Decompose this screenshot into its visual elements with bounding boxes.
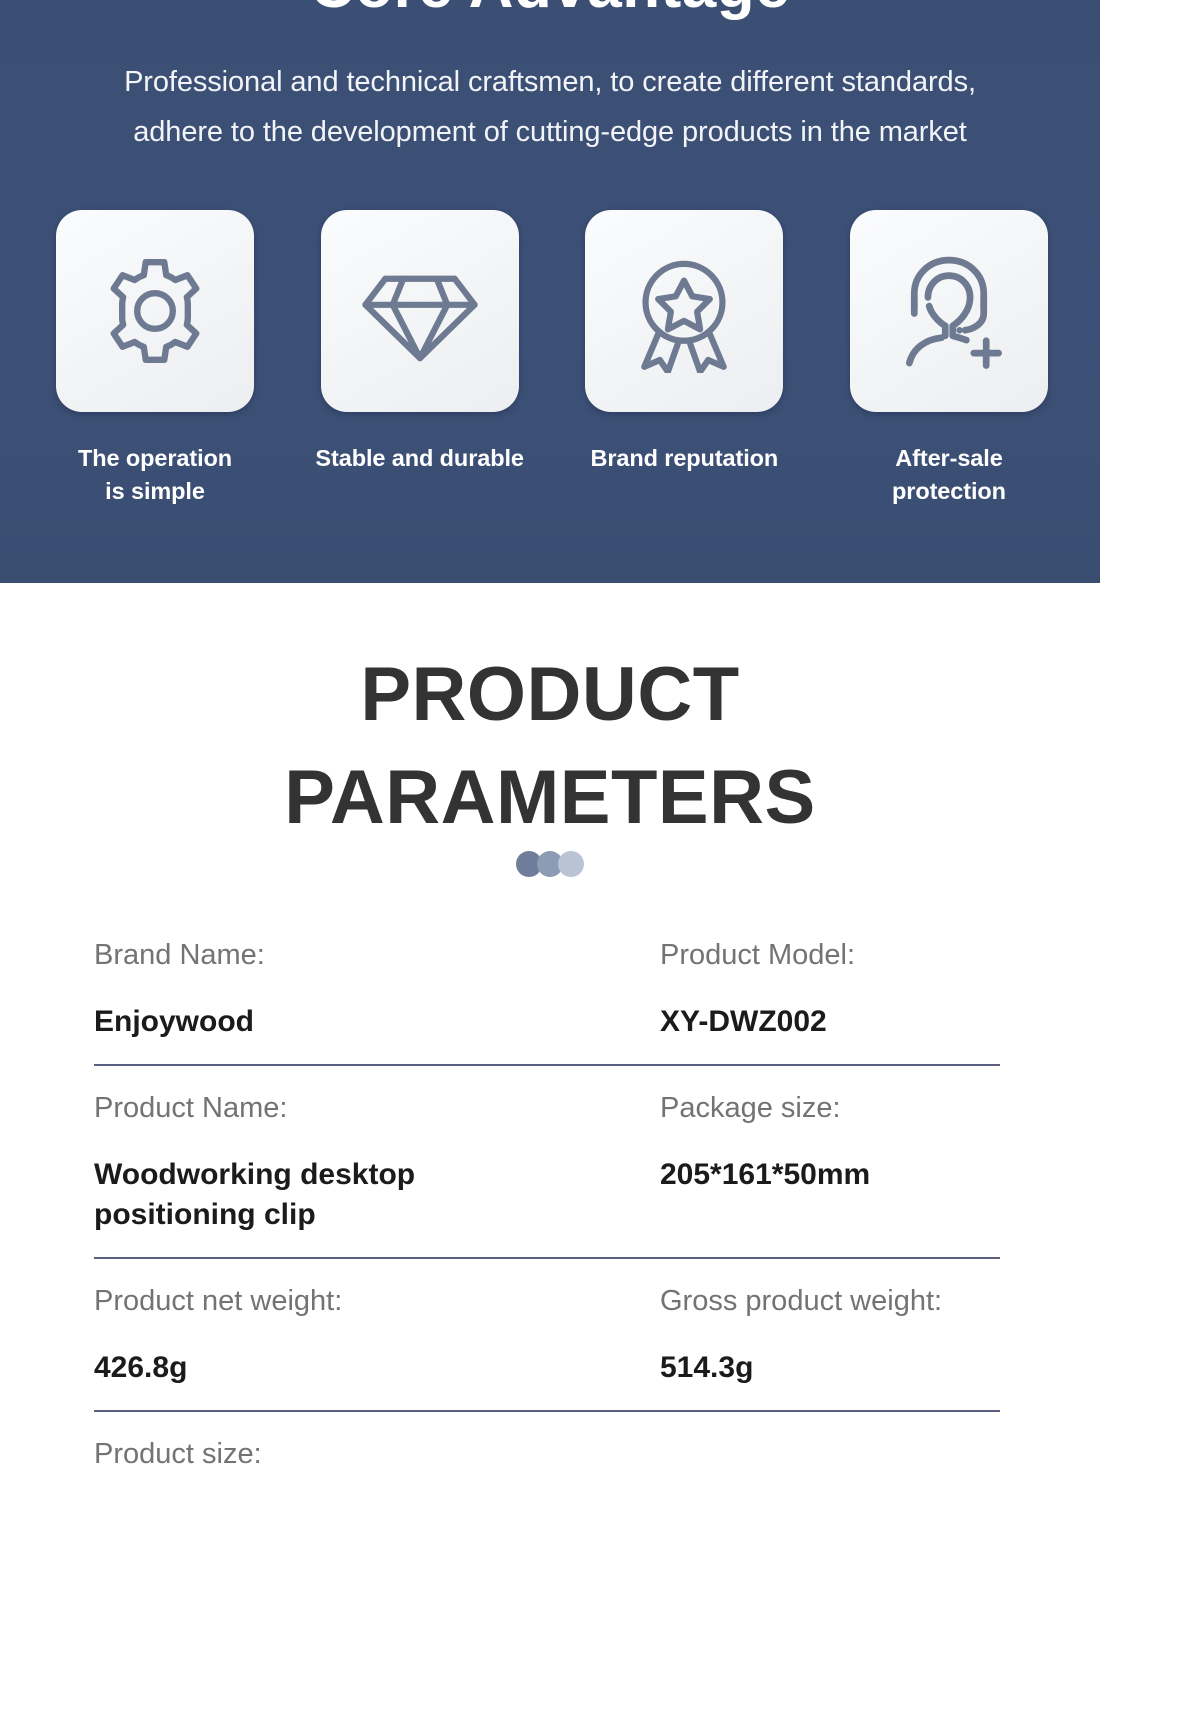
feature-label: Brand reputation: [569, 442, 799, 475]
feature-item-reputation: Brand reputation: [569, 210, 799, 509]
parameter-cell: Product size:: [94, 1412, 660, 1496]
banner-subtitle-line-1: Professional and technical craftsmen, to…: [16, 58, 1084, 108]
feature-icon-tile: [585, 210, 783, 412]
table-row: Product Name: Woodworking desktop positi…: [94, 1066, 1000, 1259]
dot-decoration: [0, 851, 1100, 877]
section-title-line-2: PARAMETERS: [0, 746, 1100, 849]
diamond-icon: [358, 249, 482, 373]
feature-label: The operation is simple: [40, 442, 270, 509]
section-title-line-1: PRODUCT: [0, 643, 1100, 746]
feature-item-operation: The operation is simple: [40, 210, 270, 509]
headset-support-plus-icon: [887, 249, 1011, 373]
parameter-cell: Product Model: XY-DWZ002: [660, 913, 1000, 1064]
banner-subtitle: Professional and technical craftsmen, to…: [16, 58, 1084, 158]
parameter-value: 514.3g: [660, 1348, 1000, 1388]
parameter-value-line: XY-DWZ002: [660, 1002, 1000, 1042]
parameter-key: Gross product weight:: [660, 1283, 1000, 1321]
feature-icon-tile: [321, 210, 519, 412]
parameter-value: 426.8g: [94, 1348, 644, 1388]
parameter-key: Package size:: [660, 1090, 1000, 1128]
feature-label-line-2: is simple: [40, 475, 270, 508]
parameter-cell: Package size: 205*161*50mm: [660, 1066, 1000, 1257]
banner-subtitle-line-2: adhere to the development of cutting-edg…: [16, 108, 1084, 158]
parameter-key: Product Model:: [660, 937, 1000, 975]
feature-item-durable: Stable and durable: [305, 210, 535, 509]
parameter-value: 205*161*50mm: [660, 1155, 1000, 1195]
parameter-value: Enjoywood: [94, 1002, 644, 1042]
parameter-cell: Product Name: Woodworking desktop positi…: [94, 1066, 660, 1257]
core-advantage-banner: Core Advantage Professional and technica…: [0, 0, 1100, 583]
feature-label-line-1: The operation: [40, 442, 270, 475]
parameter-key: Product net weight:: [94, 1283, 644, 1321]
feature-icon-tile: [850, 210, 1048, 412]
feature-item-after-sale: After-sale protection: [834, 210, 1064, 509]
parameter-value-line: Enjoywood: [94, 1002, 644, 1042]
banner-title: Core Advantage: [0, 0, 1100, 18]
parameter-cell: [660, 1412, 1000, 1496]
table-row: Product net weight: 426.8g Gross product…: [94, 1259, 1000, 1412]
decoration-dot-3: [558, 851, 584, 877]
feature-label: After-sale protection: [834, 442, 1064, 509]
award-medal-icon: [622, 249, 746, 373]
parameter-table: Brand Name: Enjoywood Product Model: XY-…: [94, 913, 1000, 1496]
parameter-key: Product Name:: [94, 1090, 644, 1128]
parameter-key: Brand Name:: [94, 937, 644, 975]
feature-label-line-1: Brand reputation: [569, 442, 799, 475]
feature-label-line-2: protection: [834, 475, 1064, 508]
table-row: Product size:: [94, 1412, 1000, 1496]
gear-icon: [94, 250, 216, 372]
feature-label-line-1: Stable and durable: [305, 442, 535, 475]
parameter-cell: Product net weight: 426.8g: [94, 1259, 660, 1410]
section-title: PRODUCT PARAMETERS: [0, 643, 1100, 850]
parameter-value: Woodworking desktop positioning clip: [94, 1155, 644, 1235]
parameter-value-line: Woodworking desktop: [94, 1155, 644, 1195]
parameter-value: XY-DWZ002: [660, 1002, 1000, 1042]
feature-icon-tile: [56, 210, 254, 412]
parameter-cell: Brand Name: Enjoywood: [94, 913, 660, 1064]
feature-label-line-1: After-sale: [834, 442, 1064, 475]
parameter-cell: Gross product weight: 514.3g: [660, 1259, 1000, 1410]
product-detail-page: Core Advantage Professional and technica…: [0, 0, 1200, 1714]
parameter-value-line: 205*161*50mm: [660, 1155, 1000, 1195]
parameter-value-line: 426.8g: [94, 1348, 644, 1388]
parameter-value-line: 514.3g: [660, 1348, 1000, 1388]
table-row: Brand Name: Enjoywood Product Model: XY-…: [94, 913, 1000, 1066]
product-parameters-section: PRODUCT PARAMETERS Brand Name: Enjoywood…: [0, 583, 1100, 1714]
feature-label: Stable and durable: [305, 442, 535, 475]
parameter-value-line: positioning clip: [94, 1195, 644, 1235]
feature-list: The operation is simple: [40, 210, 1064, 509]
parameter-key: Product size:: [94, 1436, 644, 1474]
